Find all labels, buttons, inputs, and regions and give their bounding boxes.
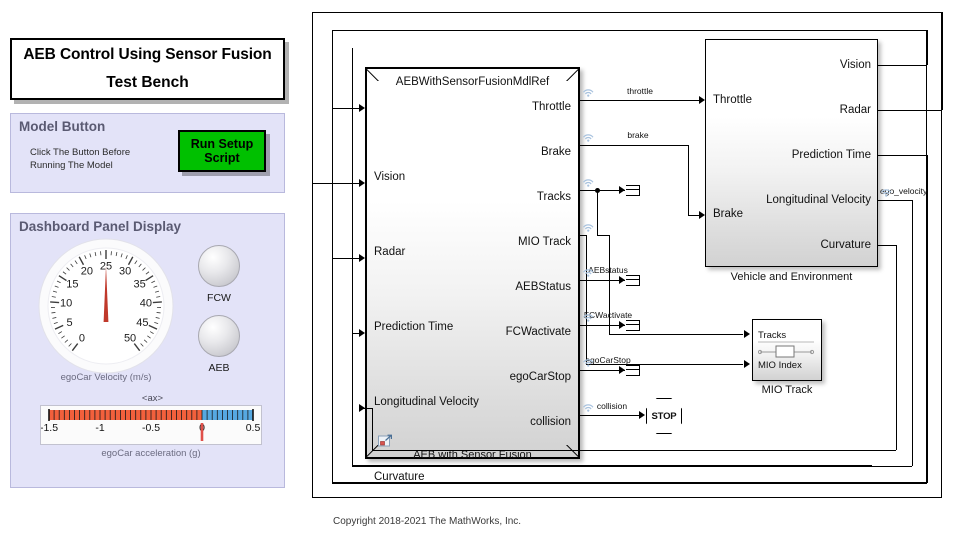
svg-text:50: 50: [124, 332, 136, 344]
veh-out-radar: Radar: [840, 104, 871, 116]
wire-curv-v2: [372, 408, 373, 450]
arrow-aebstatus-terminator: [619, 276, 625, 284]
signal-label-brake: brake: [598, 130, 678, 140]
signal-spec-icon-throttle: [582, 84, 595, 95]
wire-miotrack-v: [586, 235, 587, 364]
linear-gauge-title: <ax>: [40, 393, 265, 404]
svg-text:0: 0: [79, 332, 85, 344]
wire-brake-h1: [580, 145, 688, 146]
linear-gauge-caption: egoCar acceleration (g): [40, 448, 262, 459]
wire-curv-h4: [359, 408, 372, 409]
signal-spec-icon-ego-velocity: [880, 184, 893, 195]
ego-velocity-gauge: 05101520253035404550: [38, 238, 174, 374]
wire-vision-v1: [927, 30, 928, 65]
signal-spec-icon-aebstatus: [582, 264, 595, 275]
signal-label-fcwactivate: FCWactivate: [568, 310, 648, 320]
aeb-out-fcw-activate: FCWactivate: [506, 326, 571, 338]
aeb-in-radar: Radar: [374, 246, 405, 258]
gauge-svg: 05101520253035404550: [38, 238, 174, 374]
copyright-text: Copyright 2018-2021 The MathWorks, Inc.: [333, 516, 521, 527]
signal-spec-icon-collision: [582, 399, 595, 410]
title-line-2: Test Bench: [106, 75, 188, 91]
model-button-hint: Click The Button Before Running The Mode…: [30, 147, 160, 173]
wire-vision-v2: [332, 30, 333, 108]
wire-predtime-v2: [332, 258, 333, 483]
arrow-tracks-terminator: [619, 186, 625, 194]
aeb-out-collision: collision: [530, 416, 571, 428]
arrow-mio-tracks: [744, 330, 750, 338]
wire-vision-h3: [332, 108, 361, 109]
svg-text:45: 45: [136, 317, 148, 329]
aeb-in-curvature: Curvature: [374, 471, 425, 483]
wire-tracks-branch-v: [597, 190, 598, 235]
wire-radar-h2: [312, 12, 942, 13]
aeb-out-aeb-status: AEBStatus: [515, 281, 571, 293]
aeb-with-sensor-fusion-block[interactable]: AEBWithSensorFusionMdlRef Vision Radar P…: [365, 67, 580, 459]
svg-text:20: 20: [81, 265, 93, 277]
signal-spec-icon-brake: [582, 129, 595, 140]
wire-longvel-v2: [352, 333, 353, 466]
vehicle-and-environment-block[interactable]: Throttle Brake Vision Radar Prediction T…: [705, 39, 878, 267]
aeb-out-brake: Brake: [541, 146, 571, 158]
arrow-veh-throttle: [699, 96, 705, 104]
svg-text:5: 5: [67, 317, 73, 329]
title-line-1: AEB Control Using Sensor Fusion: [23, 47, 271, 63]
arrow-mio-index: [744, 360, 750, 368]
wire-longvel-h2: [352, 466, 912, 467]
arrow-stop: [639, 411, 645, 419]
wire-radar-v2: [312, 12, 313, 183]
arrow-aeb-prediction-time: [359, 254, 365, 262]
wire-predtime-h1: [878, 155, 927, 156]
linear-gauge-svg: -1.5-1-0.500.5: [41, 406, 261, 444]
run-setup-script-button[interactable]: Run Setup Script: [178, 130, 266, 172]
wire-curv-v1: [896, 245, 897, 450]
veh-out-longitudinal-velocity: Longitudinal Velocity: [766, 194, 871, 206]
svg-text:-1.5: -1.5: [41, 422, 58, 434]
mio-track-thumbnail: [758, 340, 818, 362]
arrow-fcwactivate-terminator: [619, 321, 625, 329]
aeb-out-throttle: Throttle: [532, 101, 571, 113]
veh-out-curvature: Curvature: [821, 239, 872, 251]
veh-in-brake: Brake: [713, 208, 743, 220]
vehicle-block-caption: Vehicle and Environment: [685, 271, 898, 283]
arrow-aeb-vision: [359, 104, 365, 112]
arrow-aeb-longitudinal-velocity: [359, 329, 365, 337]
wire-vision-h1: [878, 65, 927, 66]
simulink-canvas: AEBWithSensorFusionMdlRef Vision Radar P…: [300, 0, 954, 542]
ego-acceleration-gauge: -1.5-1-0.500.5: [40, 405, 262, 445]
aeb-block-header: AEBWithSensorFusionMdlRef: [367, 76, 578, 88]
arrow-egocarstop-terminator: [619, 366, 625, 374]
aeb-in-vision: Vision: [374, 171, 405, 183]
signal-spec-icon-egocarstop: [582, 354, 595, 365]
wire-collision: [580, 415, 642, 416]
svg-text:-1: -1: [95, 422, 104, 434]
wire-vision-h2: [332, 30, 927, 31]
wire-radar-v1: [942, 12, 943, 110]
signal-label-aebstatus: AEBstatus: [568, 265, 648, 275]
signal-spec-icon-mio-track: [582, 219, 595, 230]
signal-spec-icon-tracks: [582, 174, 595, 185]
wire-curv-h2: [372, 450, 896, 451]
wire-tracks-to-mio-h: [609, 334, 743, 335]
mio-block-caption: MIO Track: [742, 384, 832, 396]
aeb-lamp: [198, 315, 240, 357]
signal-label-throttle: throttle: [600, 86, 680, 96]
wire-predtime-v1: [927, 155, 928, 483]
terminator-aebstatus: [626, 275, 640, 286]
fcw-lamp-label: FCW: [198, 292, 240, 304]
terminator-tracks: [626, 185, 640, 196]
wire-longvel-h1: [878, 200, 912, 201]
title-banner: AEB Control Using Sensor Fusion Test Ben…: [10, 38, 285, 100]
dashboard-panel-title: Dashboard Panel Display: [19, 219, 181, 234]
terminator-fcwactivate: [626, 320, 640, 331]
wire-radar-h3: [312, 183, 361, 184]
fcw-lamp: [198, 245, 240, 287]
terminator-egocarstop: [626, 365, 640, 376]
arrow-veh-brake: [699, 211, 705, 219]
wire-predtime-h3: [332, 258, 361, 259]
wire-curv-h1: [878, 245, 896, 246]
svg-text:10: 10: [60, 297, 72, 309]
aeb-out-ego-car-stop: egoCarStop: [510, 371, 571, 383]
aeb-out-mio-track: MIO Track: [518, 236, 571, 248]
aeb-in-prediction-time: Prediction Time: [374, 321, 453, 333]
wire-brake-v: [688, 145, 689, 215]
aeb-out-tracks: Tracks: [537, 191, 571, 203]
aeb-in-longitudinal-velocity: Longitudinal Velocity: [374, 396, 479, 408]
mio-track-block[interactable]: Tracks MIO Index: [752, 319, 822, 381]
wire-predtime-h2: [332, 483, 927, 484]
svg-text:0.5: 0.5: [246, 422, 261, 434]
wire-radar-h1: [878, 110, 942, 111]
svg-text:35: 35: [133, 279, 145, 291]
aeb-lamp-label: AEB: [198, 362, 240, 374]
wire-throttle: [580, 100, 701, 101]
veh-in-throttle: Throttle: [713, 94, 752, 106]
signal-label-egocarstop: egoCarStop: [568, 355, 648, 365]
arrow-aeb-radar: [359, 179, 365, 187]
wire-longvel-v1: [912, 200, 913, 466]
veh-out-vision: Vision: [840, 59, 871, 71]
svg-text:-0.5: -0.5: [142, 422, 160, 434]
svg-text:15: 15: [66, 279, 78, 291]
veh-out-prediction-time: Prediction Time: [792, 149, 871, 161]
svg-text:30: 30: [119, 265, 131, 277]
wire-tracks-branch-h: [597, 235, 609, 236]
signal-spec-icon-fcwactivate: [582, 309, 595, 320]
gauge-caption: egoCar Velocity (m/s): [38, 372, 174, 383]
svg-text:40: 40: [140, 297, 152, 309]
model-button-panel-title: Model Button: [19, 119, 105, 134]
model-reference-icon: [377, 433, 393, 449]
